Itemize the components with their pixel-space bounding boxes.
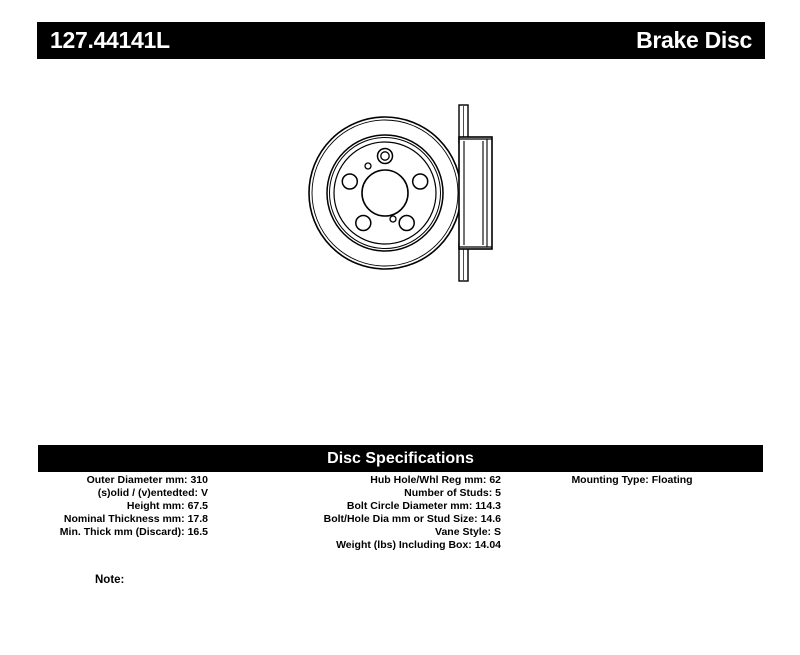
spec-label: Bolt Circle Diameter mm: — [347, 500, 472, 512]
spec-label: Height mm: — [127, 500, 185, 512]
spec-row: Bolt Circle Diameter mm: 114.3 — [208, 500, 501, 513]
note-label: Note: — [95, 574, 124, 586]
spec-value: S — [494, 526, 501, 538]
spec-value: 14.6 — [481, 513, 501, 525]
spec-value: 62 — [489, 474, 501, 486]
spec-column-middle: Hub Hole/Whl Reg mm: 62 Number of Studs:… — [208, 474, 501, 552]
spec-label: (s)olid / (v)entedted: — [98, 487, 198, 499]
spec-row: (s)olid / (v)entedted: V — [38, 487, 208, 500]
spec-row: Bolt/Hole Dia mm or Stud Size: 14.6 — [208, 513, 501, 526]
spec-label: Number of Studs: — [404, 487, 492, 499]
spec-label: Mounting Type: — [571, 474, 648, 486]
spec-value: 114.3 — [475, 500, 501, 512]
spec-value: 5 — [495, 487, 501, 499]
spec-value: V — [201, 487, 208, 499]
spec-value: 310 — [190, 474, 208, 486]
spec-value: 67.5 — [188, 500, 208, 512]
spec-label: Outer Diameter mm: — [87, 474, 188, 486]
rotor-face-view — [309, 117, 461, 269]
header-bar: 127.44141L Brake Disc — [37, 22, 765, 59]
spec-row: Height mm: 67.5 — [38, 500, 208, 513]
spec-value: 16.5 — [188, 526, 208, 538]
spec-label: Bolt/Hole Dia mm or Stud Size: — [324, 513, 478, 525]
spec-row: Number of Studs: 5 — [208, 487, 501, 500]
spec-row: Mounting Type: Floating — [501, 474, 763, 487]
spec-label: Weight (lbs) Including Box: — [336, 539, 472, 551]
spec-table: Outer Diameter mm: 310 (s)olid / (v)ente… — [38, 474, 763, 552]
spec-label: Hub Hole/Whl Reg mm: — [370, 474, 486, 486]
spec-row: Weight (lbs) Including Box: 14.04 — [208, 539, 501, 552]
spec-row: Min. Thick mm (Discard): 16.5 — [38, 526, 208, 539]
spec-label: Nominal Thickness mm: — [64, 513, 185, 525]
spec-value: 17.8 — [188, 513, 208, 525]
spec-section-bar: Disc Specifications — [38, 445, 763, 472]
part-number: 127.44141L — [50, 29, 170, 52]
spec-column-right: Mounting Type: Floating — [501, 474, 763, 487]
page-title: Brake Disc — [636, 29, 752, 52]
product-drawing — [290, 100, 520, 300]
rotor-edge-view — [459, 105, 492, 281]
spec-column-left: Outer Diameter mm: 310 (s)olid / (v)ente… — [38, 474, 208, 539]
spec-row: Outer Diameter mm: 310 — [38, 474, 208, 487]
spec-row: Nominal Thickness mm: 17.8 — [38, 513, 208, 526]
spec-label: Min. Thick mm (Discard): — [60, 526, 185, 538]
note-block: Note: — [95, 573, 132, 587]
spec-value: Floating — [652, 474, 693, 486]
spec-label: Vane Style: — [435, 526, 491, 538]
spec-row: Hub Hole/Whl Reg mm: 62 — [208, 474, 501, 487]
spec-section-title: Disc Specifications — [327, 451, 474, 467]
spec-row: Vane Style: S — [208, 526, 501, 539]
spec-value: 14.04 — [475, 539, 501, 551]
